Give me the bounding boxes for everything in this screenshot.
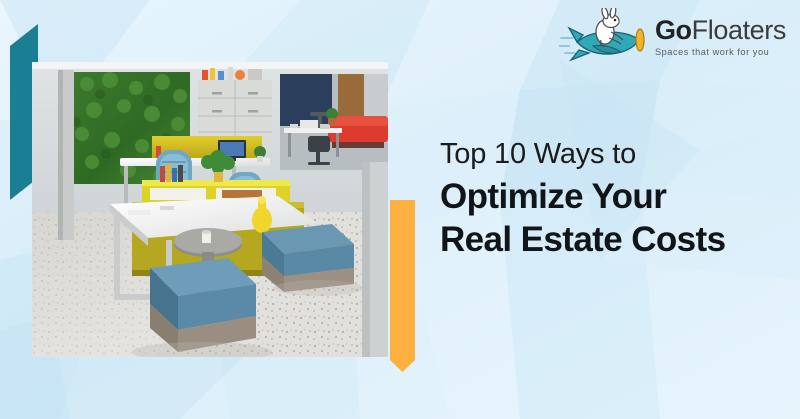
logo-name-floaters: Floaters: [692, 15, 786, 45]
headline-kicker: Top 10 Ways to: [440, 138, 790, 170]
logo-name-go: Go: [655, 15, 692, 45]
logo-wordmark: GoFloaters Spaces that work for you: [655, 15, 786, 57]
blog-banner: GoFloaters Spaces that work for you Top …: [0, 0, 800, 419]
logo-name: GoFloaters: [655, 17, 786, 44]
logo-tagline: Spaces that work for you: [655, 47, 786, 57]
office-photo-artwork: [32, 62, 388, 357]
rabbit-on-airplane-icon: [559, 8, 651, 64]
headline-line-1: Optimize Your: [440, 176, 790, 219]
gofloaters-logo[interactable]: GoFloaters Spaces that work for you: [559, 8, 786, 64]
headline-block: Top 10 Ways to Optimize Your Real Estate…: [440, 138, 790, 262]
office-interior-photo: [32, 62, 388, 357]
headline-line-2: Real Estate Costs: [440, 219, 790, 262]
orange-ribbon-accent: [390, 200, 415, 372]
